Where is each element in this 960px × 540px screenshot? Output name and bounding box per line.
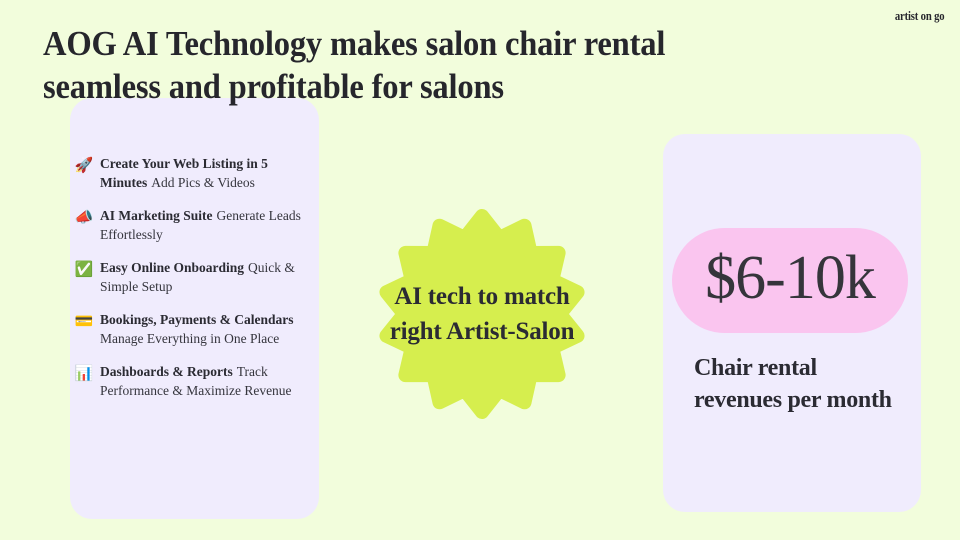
feature-text: Dashboards & Reports Track Performance &… [98, 363, 311, 400]
check-mark-icon: ✅ [70, 259, 98, 279]
feature-text: Easy Online Onboarding Quick & Simple Se… [98, 259, 311, 296]
feature-title: Bookings, Payments & Calendars [100, 312, 294, 327]
list-item: 📣 AI Marketing Suite Generate Leads Effo… [70, 207, 319, 244]
feature-subtitle: Manage Everything in One Place [100, 331, 279, 346]
revenue-caption: Chair rental revenues per month [694, 352, 909, 416]
feature-list: 🚀 Create Your Web Listing in 5 Minutes A… [70, 155, 319, 415]
feature-title: AI Marketing Suite [100, 208, 213, 223]
feature-text: Bookings, Payments & Calendars Manage Ev… [98, 311, 311, 348]
starburst-label: AI tech to match right Artist-Salon [371, 203, 593, 425]
list-item: 💳 Bookings, Payments & Calendars Manage … [70, 311, 319, 348]
starburst-badge: AI tech to match right Artist-Salon [371, 203, 593, 425]
feature-title: Dashboards & Reports [100, 364, 233, 379]
list-item: 🚀 Create Your Web Listing in 5 Minutes A… [70, 155, 319, 192]
feature-subtitle: Add Pics & Videos [151, 175, 255, 190]
feature-text: Create Your Web Listing in 5 Minutes Add… [98, 155, 311, 192]
revenue-pill: $6-10k [672, 228, 908, 333]
revenue-amount: $6-10k [705, 247, 875, 315]
feature-text: AI Marketing Suite Generate Leads Effort… [98, 207, 311, 244]
megaphone-icon: 📣 [70, 207, 98, 227]
bar-chart-icon: 📊 [70, 363, 98, 383]
slide-canvas: artist on go AOG AI Technology makes sal… [0, 0, 960, 540]
list-item: 📊 Dashboards & Reports Track Performance… [70, 363, 319, 400]
credit-card-icon: 💳 [70, 311, 98, 331]
brand-logo: artist on go [894, 8, 944, 24]
page-title: AOG AI Technology makes salon chair rent… [43, 22, 787, 108]
rocket-icon: 🚀 [70, 155, 98, 175]
list-item: ✅ Easy Online Onboarding Quick & Simple … [70, 259, 319, 296]
feature-title: Easy Online Onboarding [100, 260, 244, 275]
